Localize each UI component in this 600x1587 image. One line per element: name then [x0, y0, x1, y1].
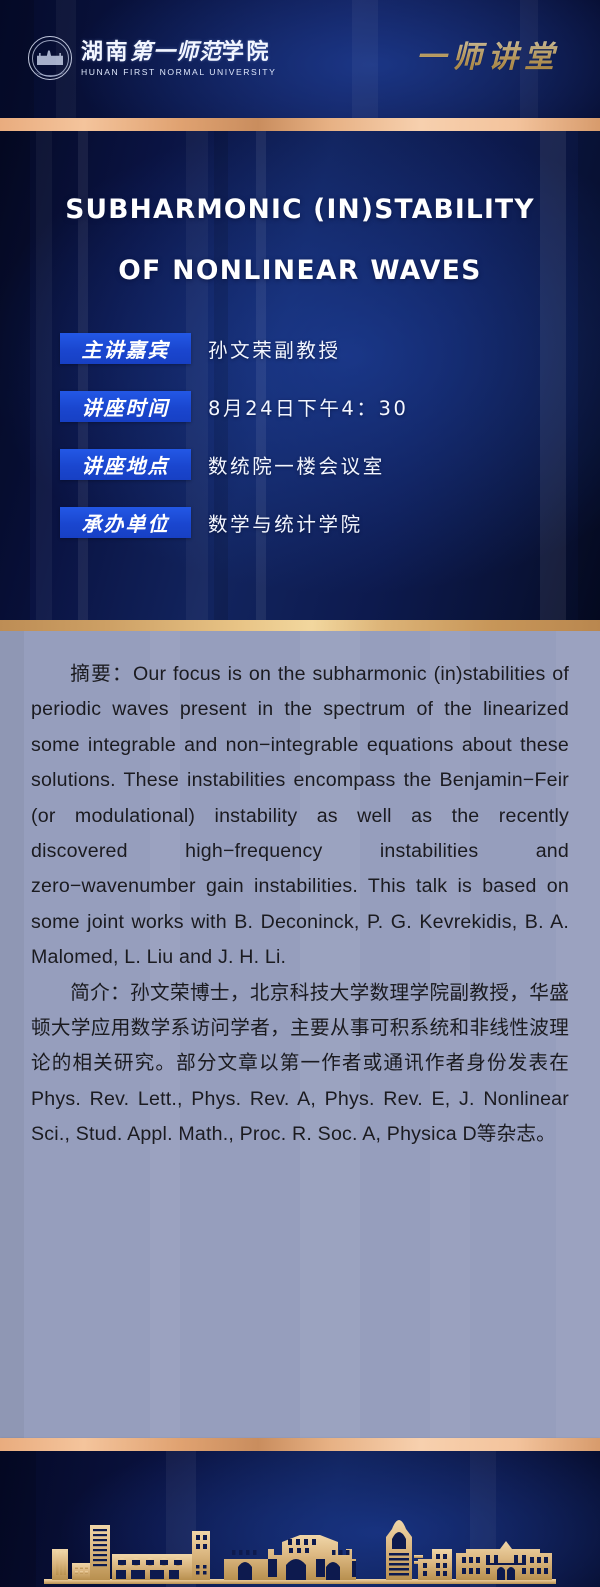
- abstract-paragraph: 摘要：Our focus is on the subharmonic (in)s…: [31, 657, 569, 976]
- info-label-speaker: 主讲嘉宾: [60, 333, 191, 364]
- university-name-cn-part2: 学院: [222, 40, 271, 65]
- university-seal-icon: [28, 36, 72, 80]
- hero-section: SUBHARMONIC (IN)STABILITY OF NONLINEAR W…: [0, 131, 600, 620]
- info-value-location: 数统院一楼会议室: [208, 450, 385, 479]
- info-value-organizer: 数学与统计学院: [208, 508, 363, 537]
- poster-footer: [0, 1451, 600, 1587]
- city-skyline-icon: [0, 1487, 600, 1587]
- lecture-title: SUBHARMONIC (IN)STABILITY OF NONLINEAR W…: [0, 179, 600, 301]
- university-name-block: 湖南第一师范学院 HUNAN FIRST NORMAL UNIVERSITY: [81, 40, 276, 77]
- header-stripe-3: [352, 0, 378, 118]
- university-name-cn-part1: 湖南: [81, 40, 130, 65]
- university-name-en: HUNAN FIRST NORMAL UNIVERSITY: [81, 67, 276, 77]
- lecture-series-brand: 一师讲堂: [416, 40, 560, 76]
- gold-divider-bottom: [0, 1438, 600, 1451]
- lecture-title-line2: OF NONLINEAR WAVES: [0, 240, 600, 301]
- abstract-text-block: 摘要：Our focus is on the subharmonic (in)s…: [31, 657, 569, 1153]
- body-stripe-1: [0, 631, 24, 1438]
- gold-divider-top: [0, 118, 600, 131]
- info-label-time: 讲座时间: [60, 391, 191, 422]
- info-value-speaker: 孙文荣副教授: [208, 334, 341, 363]
- gold-divider-middle: [0, 620, 600, 631]
- info-row-location: 讲座地点 数统院一楼会议室: [60, 447, 409, 481]
- lecture-info-list: 主讲嘉宾 孙文荣副教授 讲座时间 8月24日下午4：30 讲座地点 数统院一楼会…: [60, 331, 409, 563]
- lecture-title-line1: SUBHARMONIC (IN)STABILITY: [65, 194, 534, 225]
- poster-root: 湖南第一师范学院 HUNAN FIRST NORMAL UNIVERSITY 一…: [0, 0, 600, 1587]
- info-value-time: 8月24日下午4：30: [208, 392, 409, 421]
- info-row-speaker: 主讲嘉宾 孙文荣副教授: [60, 331, 409, 365]
- info-label-location: 讲座地点: [60, 449, 191, 480]
- info-row-organizer: 承办单位 数学与统计学院: [60, 505, 409, 539]
- info-row-time: 讲座时间 8月24日下午4：30: [60, 389, 409, 423]
- university-name-cn-script: 第一师范: [130, 39, 222, 65]
- poster-header: 湖南第一师范学院 HUNAN FIRST NORMAL UNIVERSITY 一…: [0, 0, 600, 118]
- university-logo: 湖南第一师范学院 HUNAN FIRST NORMAL UNIVERSITY: [28, 36, 276, 80]
- university-name-cn: 湖南第一师范学院: [81, 40, 276, 65]
- abstract-section: 摘要：Our focus is on the subharmonic (in)s…: [0, 631, 600, 1438]
- bio-paragraph: 简介：孙文荣博士，北京科技大学数理学院副教授，华盛顿大学应用数学系访问学者，主要…: [31, 976, 569, 1153]
- info-label-organizer: 承办单位: [60, 507, 191, 538]
